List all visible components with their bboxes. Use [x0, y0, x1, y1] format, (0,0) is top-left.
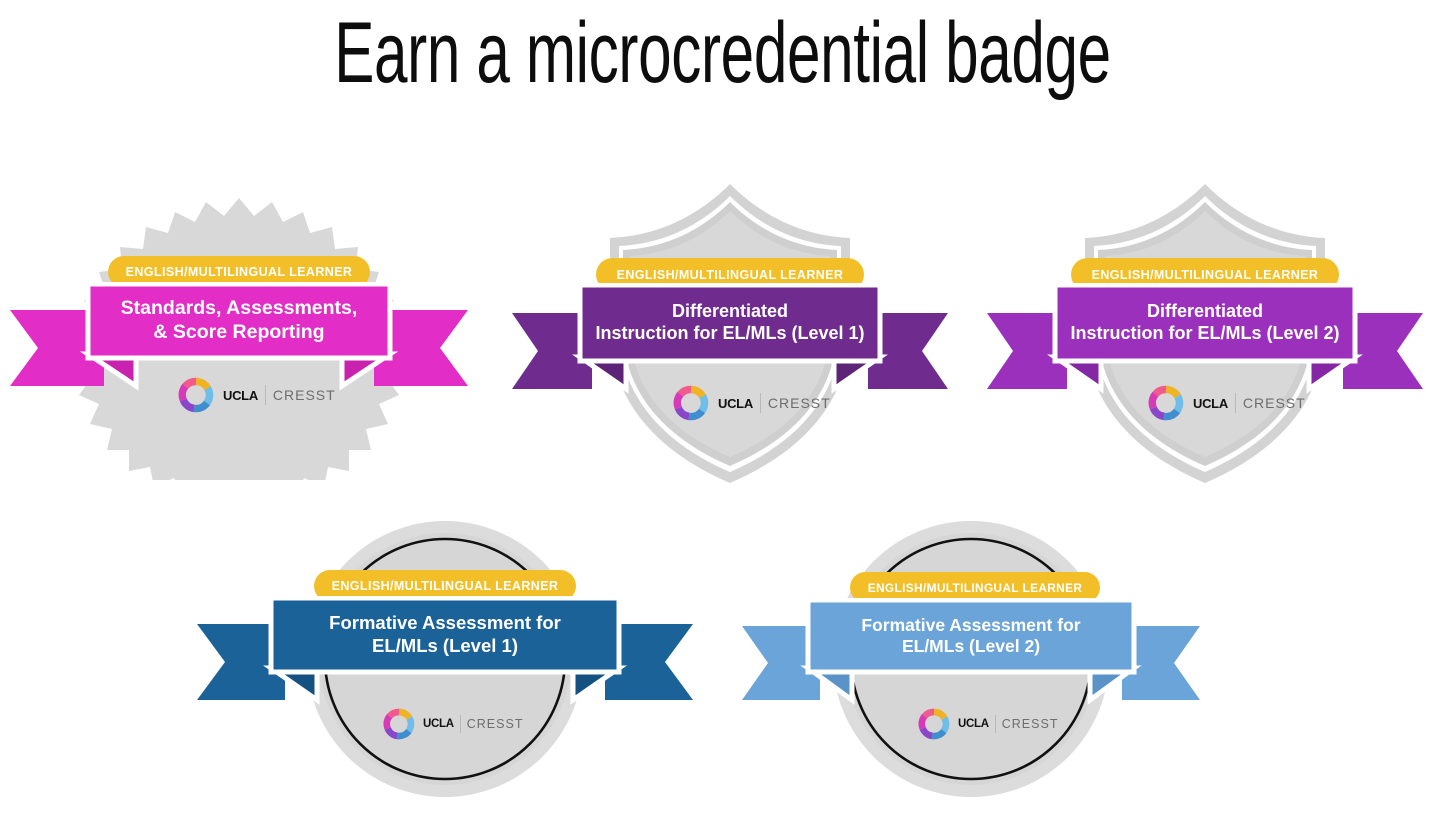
- badge-title-line-2: EL/MLs (Level 2): [902, 636, 1040, 657]
- logo-ucla-text: UCLA: [423, 718, 454, 730]
- badge-title: Differentiated Instruction for EL/MLs (L…: [1055, 285, 1355, 361]
- badge-title-line-2: & Score Reporting: [153, 321, 324, 345]
- logo-divider: [460, 715, 461, 733]
- cresst-ring-icon: [673, 385, 709, 421]
- badge-ribbon: Formative Assessment for EL/MLs (Level 1…: [195, 596, 695, 708]
- logo-ucla-text: UCLA: [1193, 396, 1228, 411]
- badge-title: Formative Assessment for EL/MLs (Level 1…: [271, 598, 619, 672]
- badge-title-line-1: Formative Assessment for: [329, 612, 561, 635]
- badge-title-line-1: Standards, Assessments,: [121, 297, 358, 321]
- logo-cresst-text: CRESST: [768, 395, 831, 411]
- ucla-cresst-logo: UCLA CRESST: [178, 377, 336, 413]
- badge-ribbon: Differentiated Instruction for EL/MLs (L…: [510, 283, 950, 395]
- badge-differentiated-instruction-level-1[interactable]: ENGLISH/MULTILINGUAL LEARNER Differentia…: [510, 178, 950, 488]
- badge-title-line-2: Instruction for EL/MLs (Level 2): [1070, 323, 1339, 345]
- badge-category-label: ENGLISH/MULTILINGUAL LEARNER: [868, 581, 1083, 595]
- logo-divider: [265, 385, 266, 405]
- ucla-cresst-logo: UCLA CRESST: [918, 708, 1058, 740]
- badge-formative-assessment-level-2[interactable]: ENGLISH/MULTILINGUAL LEARNER Formative A…: [740, 518, 1202, 800]
- badge-category-label: ENGLISH/MULTILINGUAL LEARNER: [617, 268, 844, 282]
- badge-category-label: ENGLISH/MULTILINGUAL LEARNER: [126, 265, 353, 279]
- badge-title-line-1: Formative Assessment for: [861, 615, 1080, 636]
- logo-cresst-text: CRESST: [1243, 395, 1306, 411]
- ucla-cresst-logo: UCLA CRESST: [383, 708, 523, 740]
- badge-ribbon: Differentiated Instruction for EL/MLs (L…: [985, 283, 1425, 395]
- logo-cresst-text: CRESST: [273, 387, 336, 403]
- badge-title-line-1: Differentiated: [672, 301, 788, 323]
- logo-divider: [995, 715, 996, 733]
- logo-cresst-text: CRESST: [1002, 717, 1059, 731]
- logo-divider: [760, 393, 761, 413]
- cresst-ring-icon: [1148, 385, 1184, 421]
- logo-divider: [1235, 393, 1236, 413]
- badge-title: Formative Assessment for EL/MLs (Level 2…: [808, 600, 1134, 672]
- badge-title: Differentiated Instruction for EL/MLs (L…: [580, 285, 880, 361]
- logo-ucla-text: UCLA: [718, 396, 753, 411]
- logo-ucla-text: UCLA: [958, 718, 989, 730]
- badge-title-line-1: Differentiated: [1147, 301, 1263, 323]
- ucla-cresst-logo: UCLA CRESST: [1148, 385, 1306, 421]
- cresst-ring-icon: [178, 377, 214, 413]
- badge-formative-assessment-level-1[interactable]: ENGLISH/MULTILINGUAL LEARNER Formative A…: [195, 518, 695, 800]
- page-title: Earn a microcredential badge: [217, 6, 1229, 101]
- badge-standards-assessments-score-reporting[interactable]: ENGLISH/MULTILINGUAL LEARNER Standards, …: [8, 190, 470, 480]
- badge-differentiated-instruction-level-2[interactable]: ENGLISH/MULTILINGUAL LEARNER Differentia…: [985, 178, 1425, 488]
- badge-category-label: ENGLISH/MULTILINGUAL LEARNER: [332, 579, 559, 593]
- badge-title-line-2: Instruction for EL/MLs (Level 1): [595, 323, 864, 345]
- logo-ucla-text: UCLA: [223, 388, 258, 403]
- cresst-ring-icon: [918, 708, 950, 740]
- badge-title: Standards, Assessments, & Score Reportin…: [88, 284, 390, 358]
- badge-ribbon: Standards, Assessments, & Score Reportin…: [8, 282, 470, 392]
- ucla-cresst-logo: UCLA CRESST: [673, 385, 831, 421]
- cresst-ring-icon: [383, 708, 415, 740]
- badge-title-line-2: EL/MLs (Level 1): [372, 635, 518, 658]
- logo-cresst-text: CRESST: [467, 717, 524, 731]
- badge-ribbon: Formative Assessment for EL/MLs (Level 2…: [740, 598, 1202, 708]
- badge-category-label: ENGLISH/MULTILINGUAL LEARNER: [1092, 268, 1319, 282]
